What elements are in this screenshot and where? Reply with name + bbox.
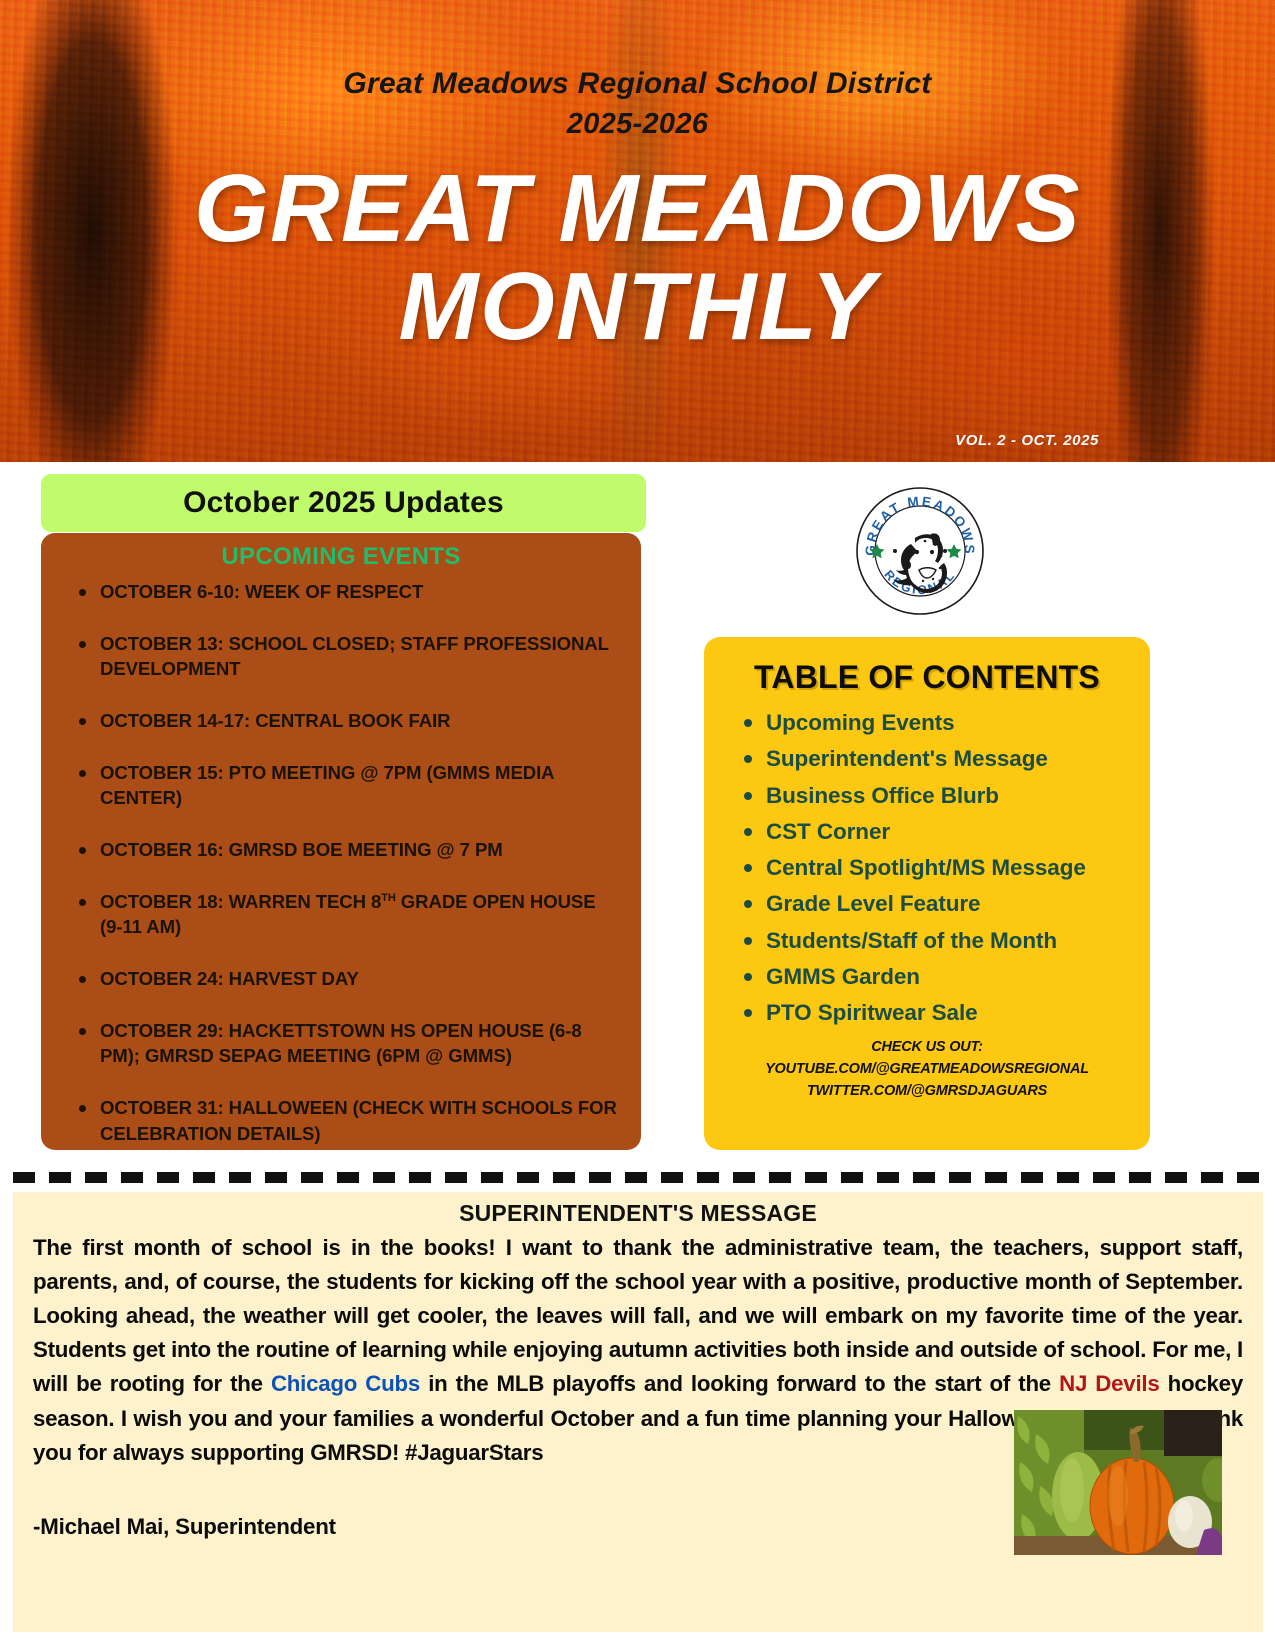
event-text-pre: OCTOBER 18: WARREN TECH 8 (100, 891, 381, 912)
social-links: CHECK US OUT: YOUTUBE.COM/@GREATMEADOWSR… (722, 1037, 1132, 1102)
newsletter-page: Great Meadows Regional School District 2… (0, 0, 1275, 1650)
pumpkin-gourds-photo (1014, 1410, 1222, 1555)
district-name-text: Great Meadows Regional School District (343, 67, 931, 100)
list-item[interactable]: Superintendent's Message (740, 744, 1132, 773)
table-of-contents-heading: TABLE OF CONTENTS (722, 659, 1132, 696)
upcoming-events-panel: UPCOMING EVENTS OCTOBER 6-10: WEEK OF RE… (41, 533, 641, 1150)
list-item: OCTOBER 24: HARVEST DAY (65, 966, 621, 992)
jaguar-seal-icon: GREAT MEADOWS REGIONAL (853, 484, 987, 618)
list-item: OCTOBER 15: PTO MEETING @ 7PM (GMMS MEDI… (65, 760, 621, 811)
list-item[interactable]: Central Spotlight/MS Message (740, 853, 1132, 882)
list-item[interactable]: Students/Staff of the Month (740, 926, 1132, 955)
updates-banner-label: October 2025 Updates (183, 486, 504, 520)
chicago-cubs-highlight: Chicago Cubs (271, 1371, 420, 1396)
table-of-contents-panel: TABLE OF CONTENTS Upcoming Events Superi… (704, 637, 1150, 1150)
list-item: OCTOBER 16: GMRSD BOE MEETING @ 7 PM (65, 837, 621, 863)
list-item: OCTOBER 14-17: CENTRAL BOOK FAIR (65, 708, 621, 734)
nj-devils-highlight: NJ Devils (1059, 1371, 1159, 1396)
list-item[interactable]: Grade Level Feature (740, 889, 1132, 918)
list-item: OCTOBER 6-10: WEEK OF RESPECT (65, 579, 621, 605)
youtube-link[interactable]: YOUTUBE.COM/@GREATMEADOWSREGIONAL (722, 1059, 1132, 1081)
message-part-2: in the MLB playoffs and looking forward … (420, 1371, 1059, 1396)
table-of-contents-list: Upcoming Events Superintendent's Message… (722, 708, 1132, 1027)
updates-banner: October 2025 Updates (41, 474, 646, 532)
page-title: GREAT MEADOWS MONTHLY (0, 160, 1275, 356)
upcoming-events-heading: UPCOMING EVENTS (57, 543, 625, 571)
section-divider (13, 1172, 1263, 1183)
list-item: OCTOBER 13: SCHOOL CLOSED; STAFF PROFESS… (65, 631, 621, 682)
twitter-link[interactable]: TWITTER.COM/@GMRSDJAGUARS (722, 1081, 1132, 1103)
list-item[interactable]: CST Corner (740, 817, 1132, 846)
school-year-text: 2025-2026 (0, 105, 1275, 144)
list-item[interactable]: GMMS Garden (740, 962, 1132, 991)
ordinal-suffix: TH (381, 891, 395, 903)
superintendent-message-heading: SUPERINTENDENT'S MESSAGE (33, 1200, 1243, 1227)
list-item-warren-tech: OCTOBER 18: WARREN TECH 8TH GRADE OPEN H… (65, 889, 621, 940)
volume-badge: VOL. 2 - OCT. 2025 (955, 432, 1099, 449)
list-item: OCTOBER 31: HALLOWEEN (CHECK WITH SCHOOL… (65, 1095, 621, 1146)
district-logo: GREAT MEADOWS REGIONAL (853, 484, 987, 618)
check-us-out-label: CHECK US OUT: (722, 1037, 1132, 1059)
district-name: Great Meadows Regional School District 2… (0, 64, 1275, 144)
list-item[interactable]: Upcoming Events (740, 708, 1132, 737)
list-item: OCTOBER 29: HACKETTSTOWN HS OPEN HOUSE (… (65, 1018, 621, 1069)
events-list: OCTOBER 6-10: WEEK OF RESPECT OCTOBER 13… (57, 579, 625, 1146)
list-item[interactable]: Business Office Blurb (740, 781, 1132, 810)
list-item[interactable]: PTO Spiritwear Sale (740, 998, 1132, 1027)
newsletter-header: Great Meadows Regional School District 2… (0, 0, 1275, 462)
